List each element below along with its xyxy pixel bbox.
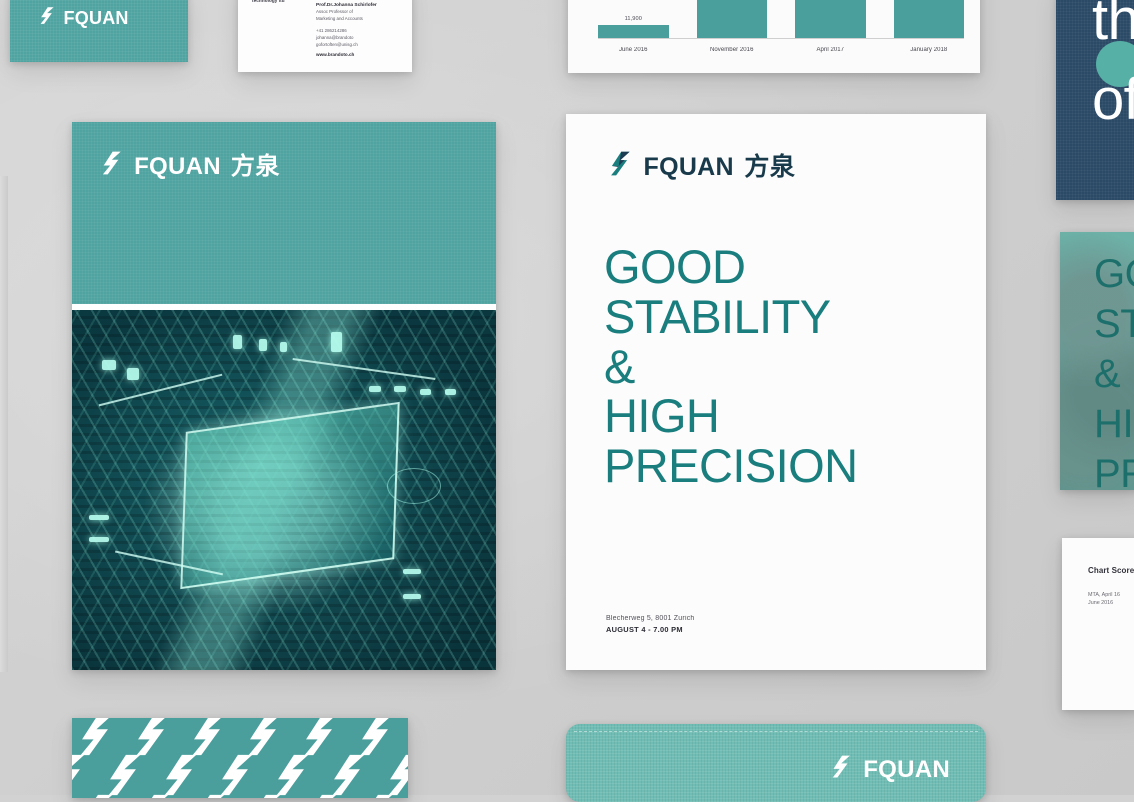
teal-poster-card: GO ST & HI PR [1060,232,1134,490]
brand-wordmark: FQUAN [863,758,950,782]
pattern-logo-mark-icon [184,792,230,798]
teal-poster-line-3: & [1094,350,1120,399]
pcb-led [89,515,109,520]
brand-logo: FQUAN 方泉 [98,150,280,183]
pcb-led [403,594,421,599]
pcb-led [233,335,242,349]
pcb-led [89,537,109,542]
business-card-website: www.brandoto.ch [316,52,402,57]
business-card-contact-3: gofortoften@unisg.ch [316,42,402,49]
business-card-name: Prof.Dr.Johanna Schirlofer [316,2,402,9]
brand-wordmark-cn: 方泉 [231,155,280,179]
contact-business-card: technology ltd Prof.Dr.Johanna Schirlofe… [238,0,412,72]
teal-poster-line-2: ST [1094,300,1134,349]
chart-bar-group: 34,000 [697,0,768,38]
navy-card-line-2: of [1092,72,1134,128]
brochure-cover: FQUAN 方泉 [72,122,496,670]
fquan-logo-mark-icon [606,150,633,184]
brand-logo: FQUAN 方泉 [606,150,795,184]
chart-score-sheet: Chart Score MTA, April 16 June 2016 [1062,538,1134,710]
chart-x-label: November 2016 [697,47,768,53]
business-card-role-2: Marketing and Accounts [316,16,402,23]
pattern-canvas [72,718,408,798]
brand-wordmark: FQUAN [644,155,734,180]
bar-chart: 11,90034,000 June 2016November 2016April… [598,0,964,59]
pcb-led [420,389,431,395]
navy-poster-card: th of [1056,0,1134,200]
sliver-face [0,176,8,672]
pcb-led [445,389,456,395]
poster-address: Blecherweg 5, 8001 Zurich [606,615,695,622]
chart-x-label: January 2018 [894,47,965,53]
pattern-logo-mark-icon [296,792,342,798]
teal-poster-line-5: PR [1094,450,1134,490]
chart-x-axis: June 2016November 2016April 2017January … [598,41,964,59]
score-sheet-title: Chart Score [1088,566,1134,575]
pattern-logo-mark-icon [72,792,118,798]
pattern-logo-mark-icon [352,792,398,798]
chart-bar [697,0,768,38]
chart-x-label: June 2016 [598,47,669,53]
pcb-led [102,360,116,370]
circuit-board-photo [72,310,496,670]
chart-bar-group [795,0,866,38]
pcb-chip [181,402,400,590]
chart-bar [894,0,965,38]
pcb-led [127,368,139,380]
teal-poster-line-4: HI [1094,400,1133,449]
left-edge-card-sliver [0,176,8,672]
pcb-artwork [72,310,496,670]
event-poster: FQUAN 方泉 GOOD STABILITY & HIGH PRECISION… [566,114,986,670]
headline-line-5: PRECISION [604,441,968,491]
fquan-logo-mark-icon [98,150,124,183]
business-card-details: Prof.Dr.Johanna Schirlofer Assoc Profess… [316,2,402,57]
chart-x-label: April 2017 [795,47,866,53]
fquan-logo-mark-icon [37,6,56,30]
business-card-contact-1: +41 286214286 [316,28,402,35]
brand-wordmark: FQUAN [64,9,129,27]
chart-bar [795,0,866,38]
navy-card-line-1: th [1092,0,1134,48]
brand-logo: FQUAN [37,6,129,30]
chart-value-label: 11,900 [625,16,642,22]
headline-line-4: HIGH [604,391,968,441]
brand-wordmark-cn: 方泉 [744,155,795,180]
teal-poster-line-1: GO [1094,250,1134,299]
pattern-logo-mark-icon [240,792,286,798]
pcb-trace [99,374,223,407]
business-card-company: technology ltd [252,0,285,3]
pcb-led [331,332,342,352]
score-sheet-line-2: June 2016 [1088,600,1113,606]
pcb-led [403,569,421,574]
stitch-line [574,731,978,732]
poster-datetime: AUGUST 4 - 7.00 PM [606,625,695,634]
chart-plot-area: 11,90034,000 [598,0,964,39]
pcb-led [259,339,267,351]
chart-bar-group [894,0,965,38]
teal-business-card: FQUAN [10,0,188,62]
score-sheet-line-1: MTA, April 16 [1088,592,1120,598]
pcb-led [394,386,406,392]
headline-line-1: GOOD [604,242,968,292]
poster-headline: GOOD STABILITY & HIGH PRECISION [604,242,968,491]
business-card-role-1: Assoc Professor of [316,9,402,16]
poster-footer: Blecherweg 5, 8001 Zurich AUGUST 4 - 7.0… [606,615,695,634]
pcb-ring [387,468,441,504]
brand-wordmark: FQUAN [134,155,221,179]
pcb-led [369,386,381,392]
pcb-led [280,342,287,352]
headline-line-2: STABILITY [604,292,968,342]
mockup-surface: FQUAN technology ltd Prof.Dr.Johanna Sch… [0,0,1134,795]
pattern-strip [72,718,408,798]
brand-logo: FQUAN [828,754,950,786]
fquan-logo-mark-icon [828,754,853,786]
fabric-case: FQUAN [566,724,986,802]
chart-bar-group: 11,900 [598,0,669,38]
pcb-trace [293,358,436,380]
chart-report-sheet: 11,90034,000 June 2016November 2016April… [568,0,980,73]
business-card-contact-2: johanna@brandoto [316,35,402,42]
pattern-logo-mark-icon [128,792,174,798]
chart-bar [598,25,669,38]
headline-line-3: & [604,342,968,392]
